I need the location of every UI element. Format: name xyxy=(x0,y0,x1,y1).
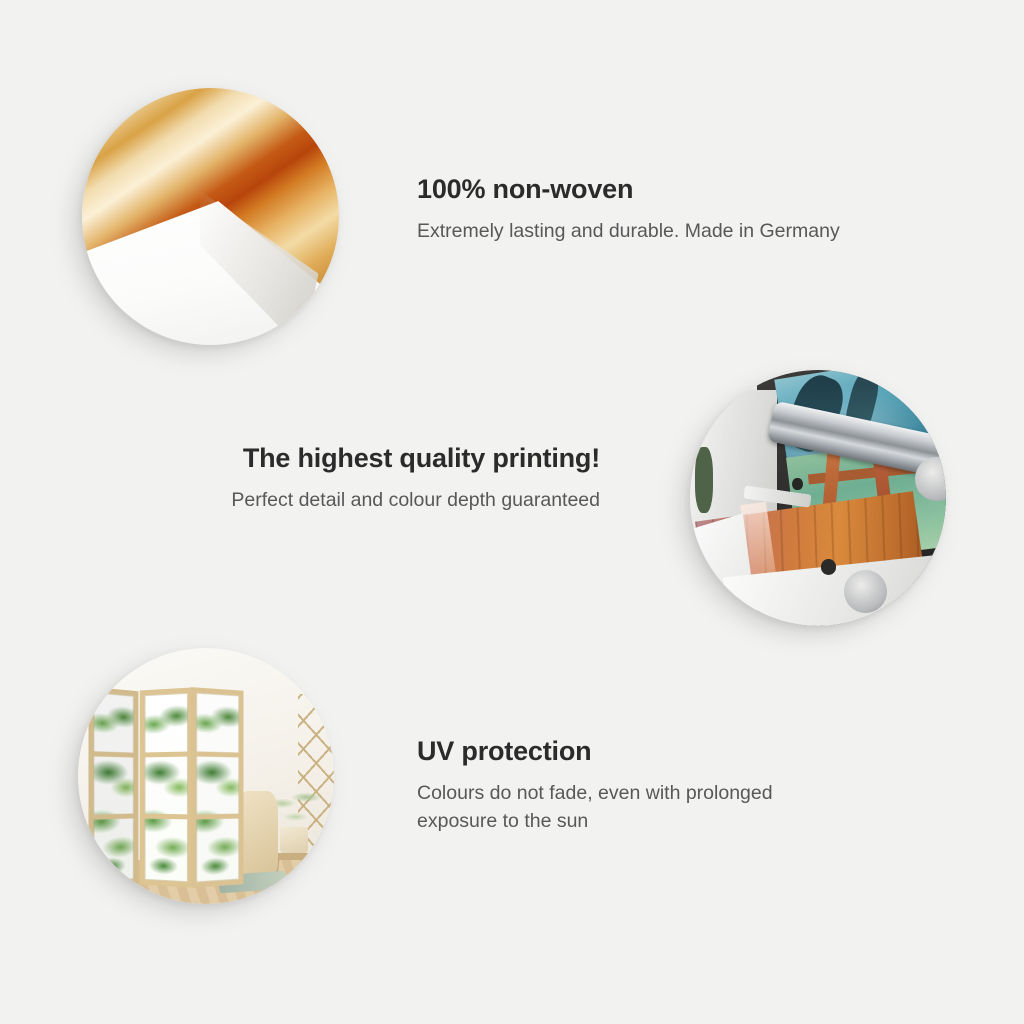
printing-machine-illustration xyxy=(690,370,946,626)
feature-image-printing xyxy=(690,370,946,626)
wallpaper-peel-illustration xyxy=(82,88,339,345)
machine-green-accent xyxy=(695,447,713,514)
divider-panel-center xyxy=(140,687,193,887)
feature-body: Perfect detail and colour depth guarante… xyxy=(160,486,600,514)
folding-room-divider xyxy=(88,689,247,886)
panel-rail xyxy=(197,751,240,757)
panel-rail xyxy=(197,813,240,819)
feature-heading: UV protection xyxy=(417,736,817,767)
divider-panel-right xyxy=(191,687,244,888)
panel-rail xyxy=(94,813,135,819)
room-divider-illustration xyxy=(78,648,334,904)
feature-heading: The highest quality printing! xyxy=(160,443,600,474)
divider-panel-left xyxy=(89,687,139,889)
roller-disc-upper xyxy=(915,457,946,501)
feature-body: Extremely lasting and durable. Made in G… xyxy=(417,217,857,245)
roller-disc-lower xyxy=(844,570,888,614)
panel-rail xyxy=(145,813,188,819)
feature-text-printing: The highest quality printing! Perfect de… xyxy=(160,443,600,514)
feature-showcase: 100% non-woven Extremely lasting and dur… xyxy=(0,0,1024,1024)
feature-text-non-woven: 100% non-woven Extremely lasting and dur… xyxy=(417,174,857,245)
panel-rail xyxy=(94,751,135,757)
feature-text-uv-protection: UV protection Colours do not fade, even … xyxy=(417,736,817,836)
feature-body: Colours do not fade, even with prolonged… xyxy=(417,779,817,836)
feature-image-uv-protection xyxy=(78,648,334,904)
panel-rail xyxy=(145,751,188,757)
machine-knob-lower xyxy=(821,559,836,574)
feature-image-non-woven xyxy=(82,88,339,345)
machine-knob-upper xyxy=(792,478,802,491)
plant-pot xyxy=(280,827,308,855)
feature-heading: 100% non-woven xyxy=(417,174,857,205)
